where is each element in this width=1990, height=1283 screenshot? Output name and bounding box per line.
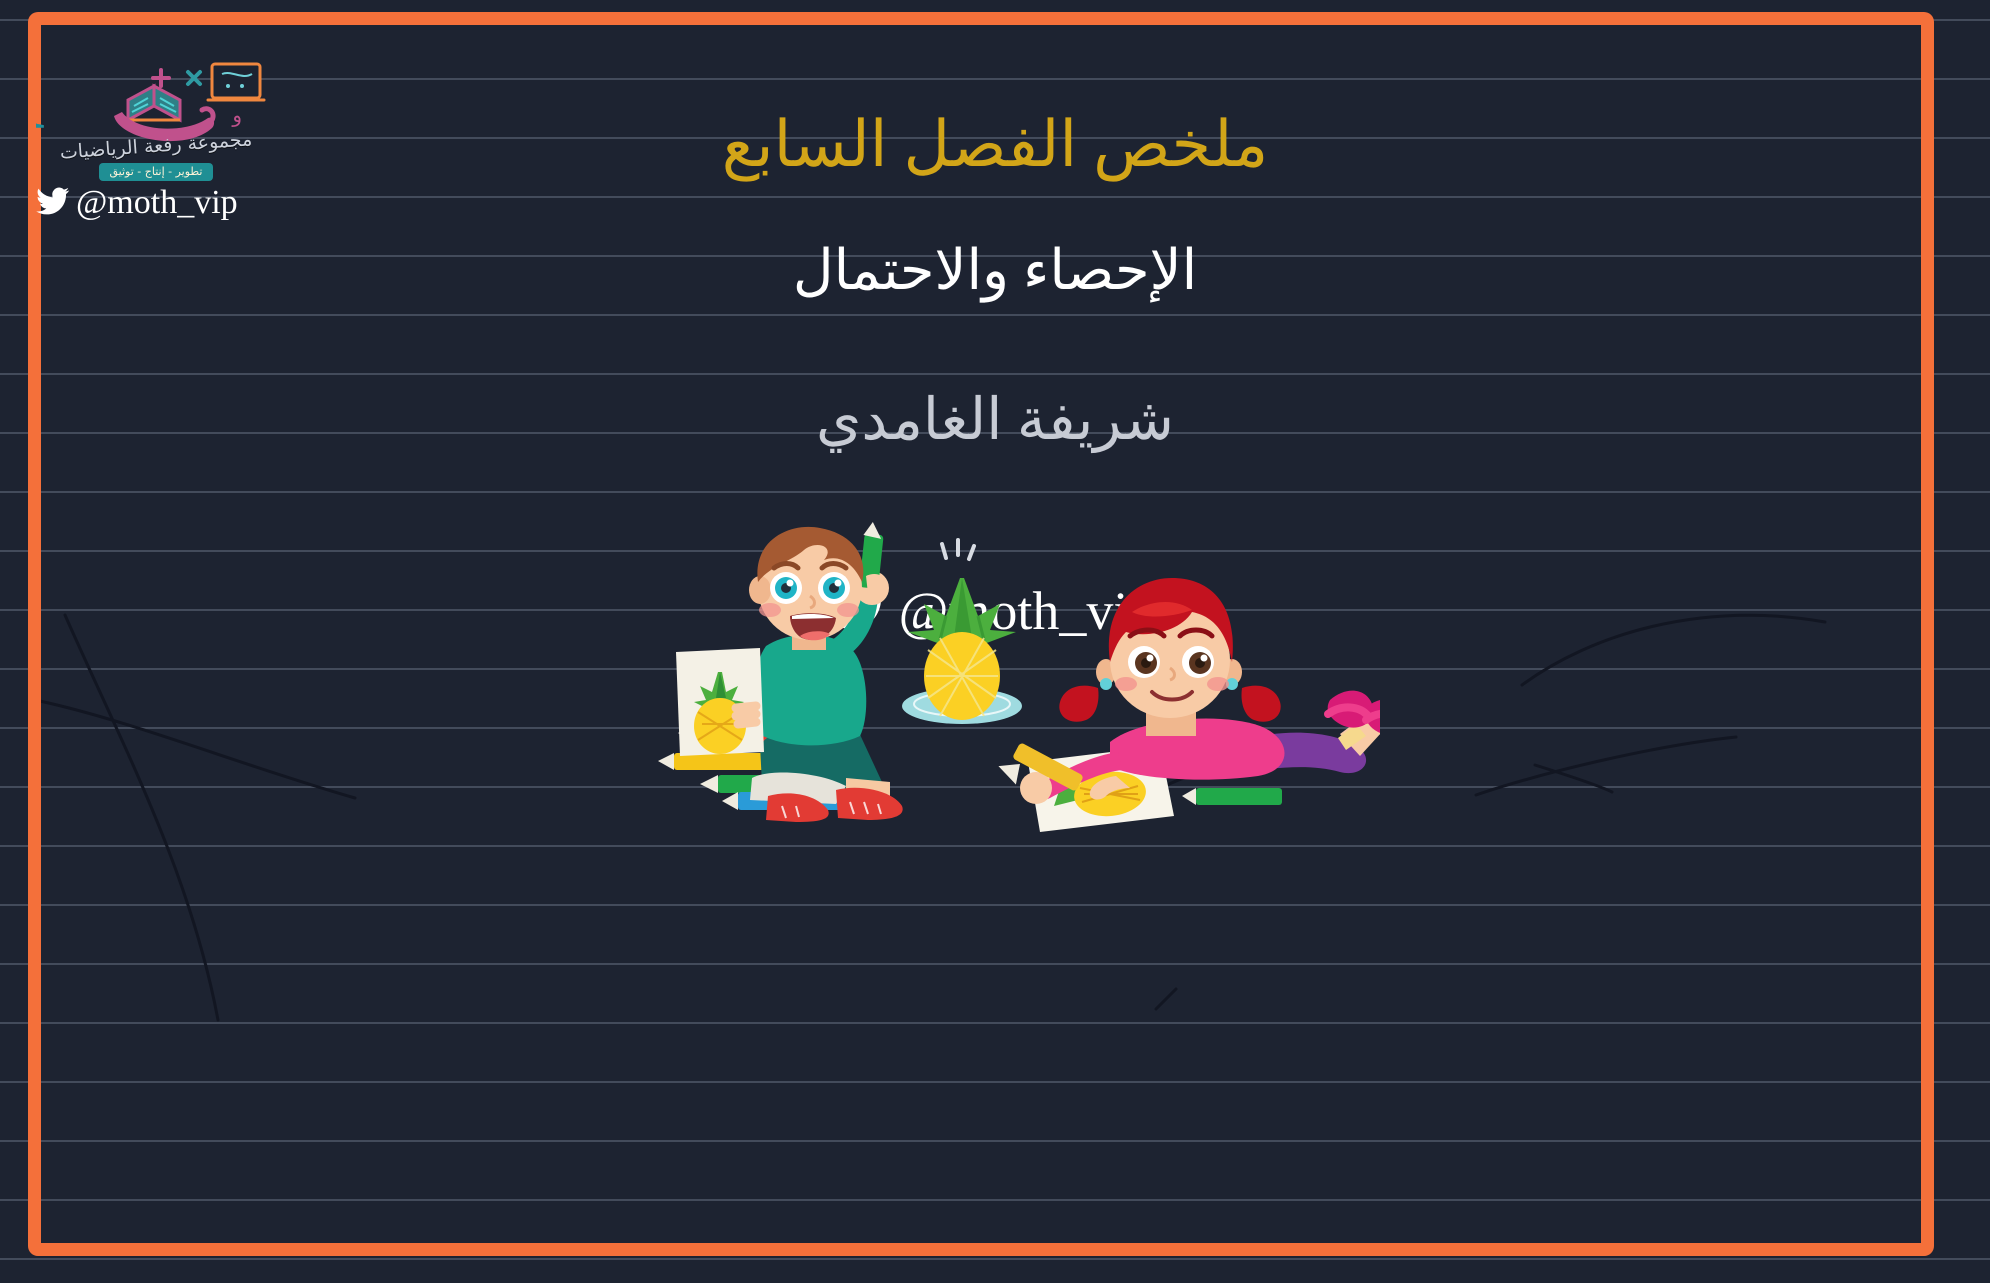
logo-handle-text: @moth_vip	[76, 186, 238, 220]
girl-character	[995, 578, 1380, 832]
crayon-yellow	[658, 753, 774, 770]
slide-title: ملخص الفصل السابع	[0, 108, 1990, 182]
slide-canvas: R و مجموعة رفعة الرياض	[0, 0, 1990, 1283]
logo-twitter-handle[interactable]: @moth_vip	[36, 186, 276, 220]
slide-subtitle: الإحصاء والاحتمال	[0, 238, 1990, 303]
illustration-graphic	[640, 520, 1380, 860]
crayon-green-floor	[1182, 788, 1282, 805]
boy-character	[676, 521, 903, 822]
pineapple-on-plate	[902, 540, 1022, 724]
rule-line	[0, 1258, 1990, 1260]
twitter-bird-icon	[36, 187, 70, 220]
kids-drawing-illustration	[640, 520, 1380, 860]
author-name: شريفة الغامدي	[0, 385, 1990, 453]
